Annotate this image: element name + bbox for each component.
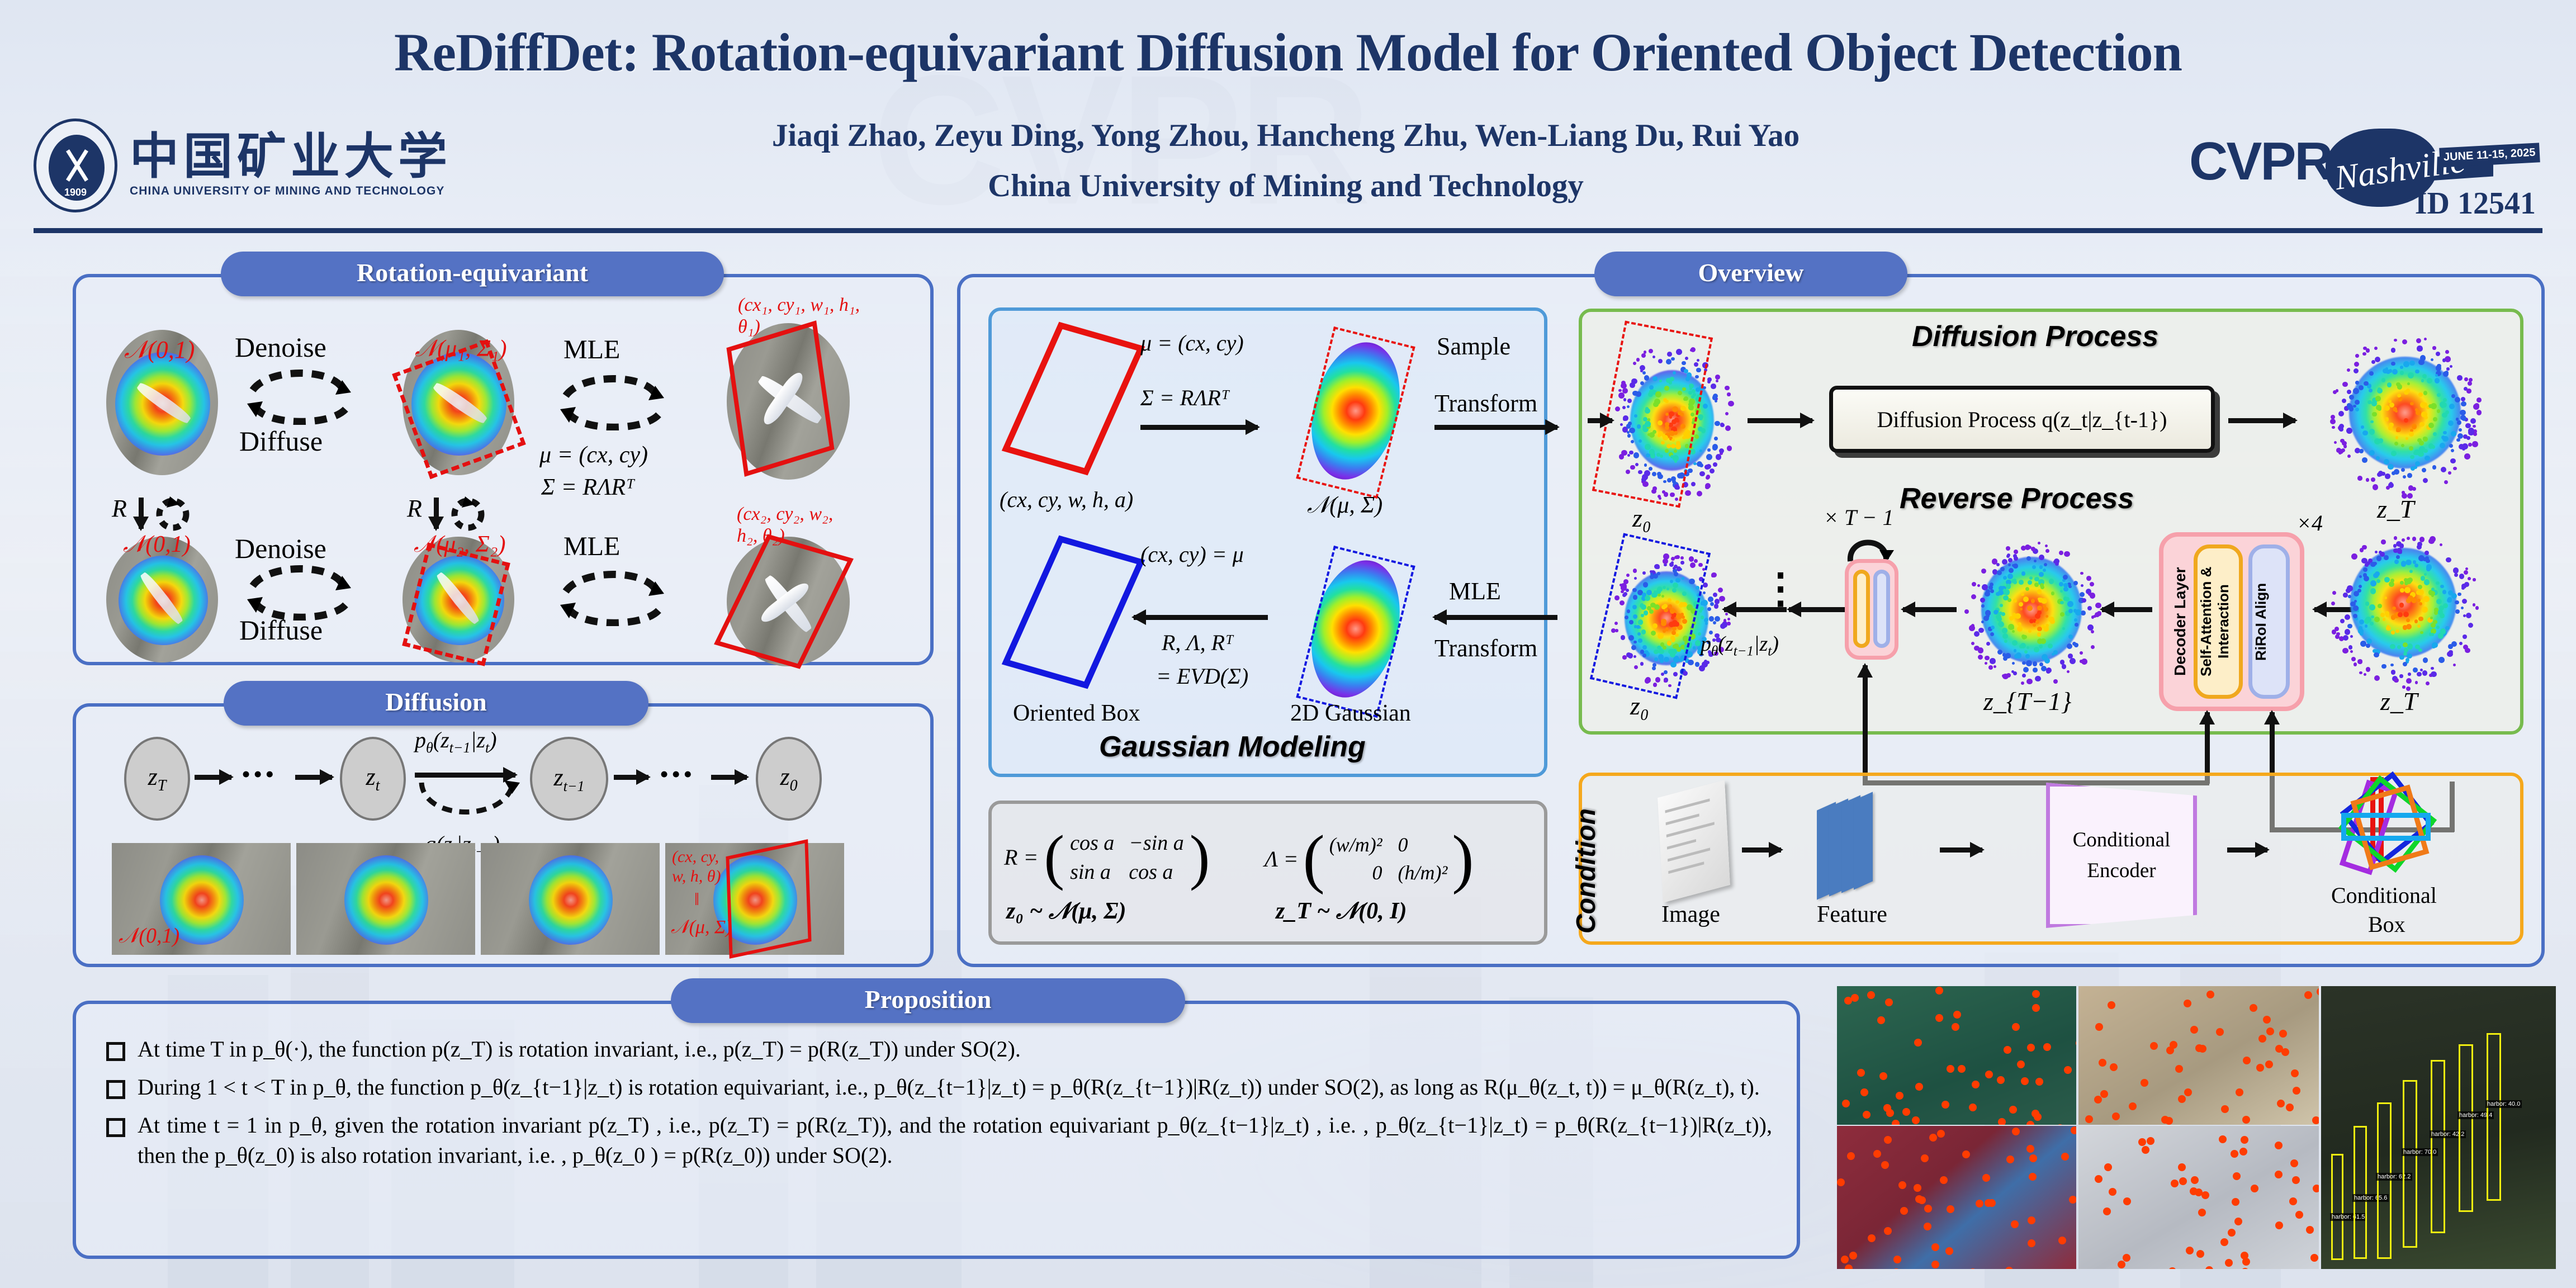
diffusion-strip-2 xyxy=(296,843,475,955)
conference-logo: CVPR Nashville JUNE 11-15, 2025 ID 12541 xyxy=(2189,112,2536,224)
diffusion-forward-curve xyxy=(413,780,522,831)
formula-L-01: 0 xyxy=(1393,833,1448,859)
diffusion-arrow-3 xyxy=(614,775,648,780)
diffusion-strip-end-equals: ‖ xyxy=(694,889,699,910)
condition-arrow-1 xyxy=(1742,847,1781,853)
gm-formula-mu-bottom: (cx, cy) = μ xyxy=(1140,541,1244,567)
condbox-label-line1: Conditional xyxy=(2331,882,2437,908)
conditional-box-graphic xyxy=(2337,778,2454,890)
node-label-z0: z0 xyxy=(780,763,797,795)
label-z0-top: z₀ xyxy=(1632,503,1651,533)
diffusion-strip-3 xyxy=(481,843,660,955)
label-zT-bottom: z_T xyxy=(2380,686,2417,716)
proposition-text: At time T in p_θ(·), the function p(z_T)… xyxy=(138,1034,1021,1064)
proposition-text: At time t = 1 in p_θ, given the rotation… xyxy=(138,1110,1772,1171)
formula-R-00: cos a xyxy=(1070,831,1123,858)
condition-feature-stack xyxy=(1817,796,1906,908)
gm-mle-label: MLE xyxy=(1449,577,1501,605)
formula-Lambda: Λ = ( (w/m)² 0 0 (h/m)² ) xyxy=(1265,821,1474,897)
header-divider xyxy=(34,228,2542,233)
reverse-arrow-3 xyxy=(1903,607,1957,612)
result-tile-storage-tanks xyxy=(2078,986,2319,1125)
page-title: ReDiffDet: Rotation-equivariant Diffusio… xyxy=(0,21,2576,83)
checkbox-icon xyxy=(106,1042,125,1061)
decoder-layer-block: Decoder Layer Self-Attention & Interacti… xyxy=(2159,532,2304,711)
gm-formula-sigma: Σ = RΛRᵀ xyxy=(1140,385,1229,411)
diffusion-strip-end-params: (cx, cy, w, h, θ) xyxy=(672,847,733,886)
proposition-item: At time T in p_θ(·), the function p(z_T)… xyxy=(106,1034,1772,1064)
gm-sample-label: Sample xyxy=(1437,332,1510,361)
conditional-encoder-block: Conditional Encoder xyxy=(2046,783,2197,928)
rotation-gauss-label-1: 𝒩(μ₁, Σ₁) xyxy=(415,335,506,362)
condition-feature-label: Feature xyxy=(1817,901,1887,928)
encoder-label-line1: Conditional xyxy=(2073,828,2171,852)
node-label-zt: zt xyxy=(366,763,380,795)
diffusion-process-box: Diffusion Process q(z_t|z_{t-1}) xyxy=(1829,386,2215,453)
result-tile-harbor-boats xyxy=(1837,986,2076,1125)
diffusion-node-ztm1: zt−1 xyxy=(530,737,608,821)
gm-arrow-bottom xyxy=(1134,615,1268,620)
author-list: Jiaqi Zhao, Zeyu Ding, Yong Zhou, Hanche… xyxy=(643,117,1929,154)
reverse-prob-label: pθ(zt−1|zt) xyxy=(1701,632,1779,660)
reverse-arrow-4 xyxy=(2102,607,2152,612)
loop-count-label: × T − 1 xyxy=(1824,504,1894,531)
gm-gaussian-caption: 2D Gaussian xyxy=(1290,700,1411,727)
rotation-curl-icon-2 xyxy=(447,492,489,533)
condition-image-card xyxy=(1658,780,1730,902)
diffusion-reverse-prob: pθ(zt−1|zt) xyxy=(415,727,497,756)
rotation-denoise-label-1: Denoise xyxy=(235,331,326,363)
result-tile-harbor-detections: harbor: 61.5 harbor: 65.6 harbor: 62.2 h… xyxy=(2321,986,2556,1269)
condition-image-label: Image xyxy=(1661,901,1720,928)
diffusion-node-zt: zt xyxy=(340,737,406,821)
university-logo: 1909 中国矿业大学 CHINA UNIVERSITY OF MINING A… xyxy=(34,119,452,212)
diffusion-arrow-2 xyxy=(295,775,332,780)
proposition-item: During 1 < t < T in p_θ, the function p_… xyxy=(106,1072,1772,1102)
gm-formula-evd-1: R, Λ, Rᵀ xyxy=(1162,629,1233,656)
rotation-cycle-arrows-3 xyxy=(246,559,352,621)
gm-oriented-box-caption: Oriented Box xyxy=(1013,700,1140,727)
rotation-mle-label-2: MLE xyxy=(563,531,620,562)
result-tile-tennis-courts xyxy=(1837,1126,2076,1269)
gm-formula-mu: μ = (cx, cy) xyxy=(1140,330,1244,356)
diffusion-ellipsis-1: ••• xyxy=(241,759,277,789)
decoder-layer-label: Decoder Layer xyxy=(2168,537,2193,707)
scatter-zT-top xyxy=(2326,330,2482,498)
scatter-zTm1 xyxy=(1961,537,2101,688)
reverse-process-title: Reverse Process xyxy=(1900,482,2134,515)
process-arrow-2 xyxy=(1748,418,1812,423)
diffusion-strip-start-label: 𝒩(0,1) xyxy=(119,924,179,948)
panel-title-diffusion: Diffusion xyxy=(224,681,648,726)
formula-R: R = ( cos a −sin a sin a cos a ) xyxy=(1004,822,1210,893)
diffusion-node-z0: z0 xyxy=(756,737,822,821)
rotation-down-arrow-2 xyxy=(434,498,439,529)
proposition-item: At time t = 1 in p_θ, given the rotation… xyxy=(106,1110,1772,1171)
encoder-label-line2: Encoder xyxy=(2087,859,2156,883)
diffusion-strip-oriented-box xyxy=(726,839,811,959)
formula-R-label: R = xyxy=(1004,844,1038,870)
checkbox-icon xyxy=(106,1118,125,1137)
rotation-op-label-1: R xyxy=(112,494,127,523)
crossed-picks-icon xyxy=(65,148,89,183)
rotation-oriented-box-1 xyxy=(726,320,834,477)
gm-box-params: (cx, cy, w, h, a) xyxy=(1000,486,1133,513)
rotation-noise-label-1: 𝒩(0,1) xyxy=(124,335,195,364)
label-z0-bottom: z₀ xyxy=(1630,691,1649,721)
rotation-cycle-arrows-4 xyxy=(559,565,665,626)
panel-title-rotation: Rotation-equivariant xyxy=(221,252,724,296)
paper-id: ID 12541 xyxy=(2415,186,2536,221)
decoder-inner-label-2: RiRoI Align xyxy=(2252,548,2270,695)
gm-gauss-label: 𝒩(μ, Σ) xyxy=(1307,492,1382,519)
formula-R-11: cos a xyxy=(1123,858,1184,884)
rotation-box-params-2: (cx₂, cy₂, w₂, h₂, θ₂) xyxy=(737,503,857,547)
diffusion-arrow-reverse xyxy=(415,773,515,778)
scatter-zT-bottom xyxy=(2326,528,2482,690)
rotation-noise-label-2: 𝒩(0,1) xyxy=(123,531,191,558)
founded-year: 1909 xyxy=(36,187,115,198)
proposition-list: At time T in p_θ(·), the function p(z_T)… xyxy=(106,1034,1772,1178)
affiliation: China University of Mining and Technolog… xyxy=(643,168,1929,204)
condbox-label-line2: Box xyxy=(2368,911,2405,937)
gm-arrow-top xyxy=(1140,425,1258,430)
rotation-formula-mu-1: μ = (cx, cy) xyxy=(539,442,648,468)
rotation-mle-label-1: MLE xyxy=(563,334,620,365)
condition-title: Condition xyxy=(1571,794,1602,934)
decoder-inner-label-1: Self-Attention & Interaction xyxy=(2198,548,2232,695)
rotation-gauss-label-2: 𝒩(μ₂, Σ₂) xyxy=(414,531,505,558)
detection-label: harbor: 40.0 xyxy=(2485,1100,2522,1108)
node-label-ztm1: zt−1 xyxy=(554,763,585,795)
formula-z0-dist: z₀ ~ 𝒩(μ, Σ) xyxy=(1006,898,1126,925)
formula-R-10: sin a xyxy=(1070,858,1123,884)
formula-R-01: −sin a xyxy=(1123,831,1184,858)
gm-transform-label-2: Transform xyxy=(1434,634,1537,662)
rotation-op-label-2: R xyxy=(407,494,422,523)
gm-caption: Gaussian Modeling xyxy=(1099,730,1366,764)
cumt-seal-icon: 1909 xyxy=(34,119,117,212)
rotation-curl-icon-1 xyxy=(152,492,193,533)
formula-L-00: (w/m)² xyxy=(1329,833,1393,859)
decoder-mini-block xyxy=(1845,559,1898,660)
rotation-down-arrow-1 xyxy=(139,498,144,529)
cvpr-wordmark: CVPR xyxy=(2189,131,2332,192)
gm-arrow-mle xyxy=(1434,615,1557,620)
gm-arrow-sample xyxy=(1434,425,1557,430)
rotation-diffuse-label-1: Diffuse xyxy=(239,425,323,457)
node-label-zT: zT xyxy=(148,763,167,795)
diffusion-ellipsis-2: ••• xyxy=(660,759,695,789)
result-tile-parking-cars xyxy=(2078,1126,2319,1269)
rotation-cycle-arrows-1 xyxy=(246,363,352,425)
process-arrow-3 xyxy=(2228,418,2295,423)
panel-title-overview: Overview xyxy=(1594,252,1907,296)
process-arrow-1 xyxy=(1588,418,1612,423)
gm-transform-label-1: Transform xyxy=(1434,389,1537,418)
condition-arrow-3 xyxy=(2227,847,2267,853)
condition-arrow-2 xyxy=(1940,847,1982,853)
diffusion-arrow-4 xyxy=(711,775,747,780)
proposition-text: During 1 < t < T in p_θ, the function p_… xyxy=(138,1072,1760,1102)
university-name-cn: 中国矿业大学 xyxy=(130,133,452,180)
decoder-repeat-label: ×4 xyxy=(2296,510,2323,536)
university-name-en: CHINA UNIVERSITY OF MINING AND TECHNOLOG… xyxy=(130,184,452,198)
label-zTm1: z_{T−1} xyxy=(1983,686,2071,716)
panel-title-proposition: Proposition xyxy=(671,978,1185,1023)
checkbox-icon xyxy=(106,1080,125,1099)
rotation-cycle-arrows-2 xyxy=(559,369,665,430)
diffusion-process-title: Diffusion Process xyxy=(1912,320,2158,353)
formula-L-10: 0 xyxy=(1329,859,1393,884)
diffusion-strip-end-label: 𝒩(μ, Σ) xyxy=(671,917,732,938)
gm-formula-evd-2: = EVD(Σ) xyxy=(1156,663,1248,689)
formula-zT-dist: z_T ~ 𝒩(0, I) xyxy=(1276,898,1407,925)
diffusion-arrow-1 xyxy=(195,775,231,780)
reverse-arrow-2 xyxy=(1789,607,1850,612)
rotation-box-params-1: (cx₁, cy₁, w₁, h₁, θ₁) xyxy=(738,294,861,338)
condition-feed-line-1 xyxy=(1863,665,1868,784)
formula-L-11: (h/m)² xyxy=(1393,859,1448,884)
diffusion-node-zT: zT xyxy=(124,737,190,821)
formula-L-label: Λ = xyxy=(1265,846,1298,872)
rotation-formula-sigma-1: Σ = RΛRᵀ xyxy=(541,474,634,501)
label-zT-top: z_T xyxy=(2377,494,2414,524)
